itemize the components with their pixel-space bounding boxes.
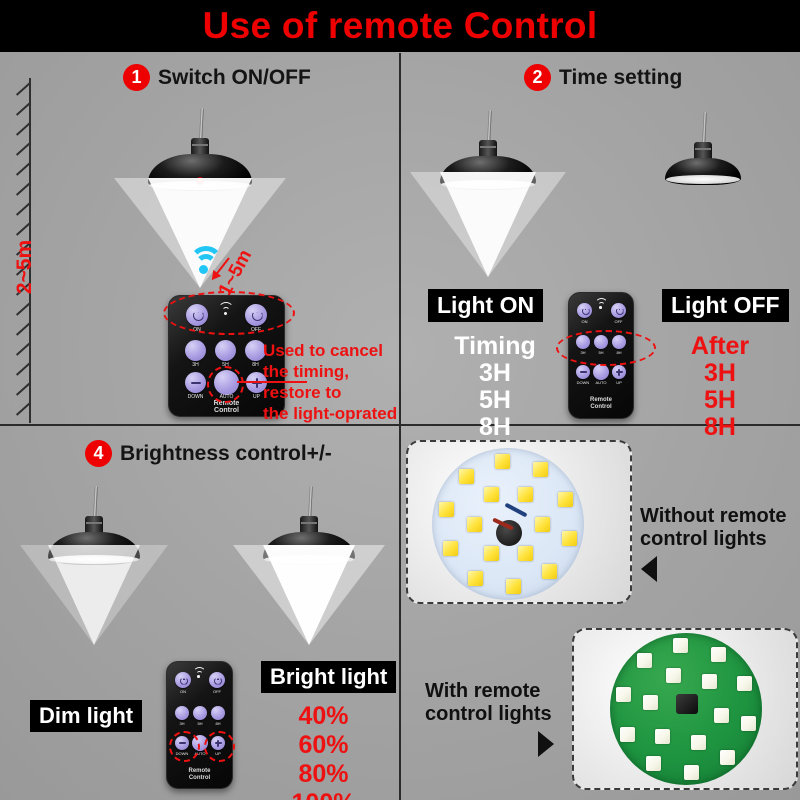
led-chip — [495, 454, 510, 469]
percent-item: 80% — [261, 760, 386, 789]
infographic-page: Use of remote Control 1 Switch ON/OFF 2~… — [0, 0, 800, 800]
remote-button-3h[interactable] — [185, 340, 206, 361]
callout-line-4: the light-oprated — [263, 403, 397, 424]
highlight-up-button — [204, 731, 235, 762]
remote-label-3h: 3H — [175, 721, 189, 726]
lamp-cord — [702, 112, 707, 146]
lamp-panel-2-off — [665, 112, 741, 192]
percent-item: 40% — [261, 702, 386, 731]
power-icon — [616, 307, 624, 315]
after-list-item: 5H — [645, 387, 795, 414]
callout-line-2: the timing, — [263, 361, 397, 382]
with-remote-label: With remote control lights — [425, 680, 552, 726]
remote-button-auto[interactable] — [593, 364, 609, 380]
remote-button-3h[interactable] — [175, 706, 189, 720]
remote-button-on[interactable] — [175, 672, 191, 688]
minus-icon — [580, 371, 587, 372]
lamp-cord — [199, 108, 204, 142]
highlight-down-button — [169, 731, 200, 762]
led-chip — [646, 756, 661, 771]
led-chip — [714, 708, 729, 723]
led-chip — [620, 727, 635, 742]
timing-list-item: 8H — [420, 414, 570, 441]
led-chip — [673, 638, 688, 653]
led-chip — [439, 502, 454, 517]
after-list-item: 8H — [645, 414, 795, 441]
wifi-icon — [193, 667, 207, 678]
divider-vertical-top — [399, 53, 401, 425]
led-chip — [542, 564, 557, 579]
arrow-left-icon — [641, 556, 657, 582]
lamp-shade — [665, 158, 741, 185]
led-chip — [711, 647, 726, 662]
panel-2-number: 2 — [524, 64, 551, 91]
power-icon — [214, 677, 222, 685]
percent-item: 100% — [261, 789, 386, 800]
after-list-item: 3H — [645, 360, 795, 387]
timing-list: Timing 3H 5H 8H — [420, 333, 570, 441]
percent-item: 60% — [261, 731, 386, 760]
timing-list-item: 3H — [420, 360, 570, 387]
light-beam-panel-2 — [488, 172, 536, 277]
led-chip — [467, 517, 482, 532]
with-remote-line-1: With remote — [425, 680, 552, 703]
remote-label-5h: 5H — [193, 721, 207, 726]
lamp-cord — [93, 486, 98, 520]
divider-vertical-bottom — [399, 426, 401, 800]
led-chip — [506, 579, 521, 594]
ir-receiver-module — [676, 694, 698, 714]
without-remote-label: Without remote control lights — [640, 505, 786, 551]
remote-footer-line2: Control — [569, 403, 633, 411]
light-beam-bright — [309, 545, 355, 645]
lamp-cord — [308, 486, 313, 520]
light-on-badge: Light ON — [428, 289, 543, 322]
highlight-power-row — [163, 291, 295, 335]
light-off-badge: Light OFF — [662, 289, 789, 322]
callout-line-1: Used to cancel — [263, 340, 397, 361]
remote-control-panel-3[interactable]: ON OFF 3H 5H 8H DOWN AUTO UP Remote Cont… — [166, 661, 233, 789]
remote-label-on: ON — [175, 689, 191, 694]
lamp-rim — [666, 175, 740, 184]
remote-button-off[interactable] — [611, 303, 626, 318]
led-chip — [643, 695, 658, 710]
timing-list-item: Timing — [420, 333, 570, 360]
remote-button-up[interactable] — [612, 365, 626, 379]
highlight-timer-row — [556, 330, 656, 366]
bright-light-badge: Bright light — [261, 661, 396, 693]
remote-footer-line2: Control — [167, 774, 232, 782]
brightness-percent-list: 40% 60% 80% 100% — [261, 702, 386, 800]
wifi-icon — [595, 298, 609, 309]
remote-button-8h[interactable] — [211, 706, 225, 720]
led-chip — [655, 729, 670, 744]
led-chip — [468, 571, 483, 586]
with-remote-line-2: control lights — [425, 703, 552, 726]
timing-list-item: 5H — [420, 387, 570, 414]
led-chip — [562, 531, 577, 546]
remote-label-8h: 8H — [211, 721, 225, 726]
remote-button-down[interactable] — [576, 365, 590, 379]
power-icon — [582, 307, 590, 315]
led-chip — [741, 716, 756, 731]
after-list-item: After — [645, 333, 795, 360]
led-chip — [533, 462, 548, 477]
remote-button-on[interactable] — [577, 303, 592, 318]
remote-button-5h[interactable] — [193, 706, 207, 720]
led-chip — [518, 546, 533, 561]
light-beam-dim — [94, 545, 140, 645]
remote-label-up: UP — [607, 380, 631, 385]
remote-button-5h[interactable] — [215, 340, 236, 361]
panel-3-number: 4 — [85, 440, 112, 467]
after-list: After 3H 5H 8H — [645, 333, 795, 441]
plus-icon-bar — [616, 371, 623, 372]
arrow-right-icon — [538, 731, 554, 757]
page-title: Use of remote Control — [0, 2, 800, 50]
minus-icon — [191, 382, 201, 384]
led-chip — [443, 541, 458, 556]
photo-without-remote — [406, 440, 632, 604]
callout-note: Used to cancel the timing, restore to th… — [263, 340, 397, 424]
led-chip — [484, 487, 499, 502]
led-chip — [459, 469, 474, 484]
remote-label-3h: 3H — [185, 362, 206, 368]
led-chip — [637, 653, 652, 668]
led-chip — [484, 546, 499, 561]
callout-line-3: restore to — [263, 382, 397, 403]
led-chip — [558, 492, 573, 507]
without-remote-line-1: Without remote — [640, 505, 786, 528]
remote-label-on: ON — [577, 319, 592, 324]
led-chip — [702, 674, 717, 689]
remote-button-down[interactable] — [185, 372, 206, 393]
led-chip — [518, 487, 533, 502]
remote-label-off: OFF — [209, 689, 225, 694]
wall-distance-label: 2~5m — [13, 232, 37, 302]
highlight-auto-button — [207, 366, 244, 403]
panel-1-number: 1 — [123, 64, 150, 91]
led-chip — [720, 750, 735, 765]
led-chip — [737, 676, 752, 691]
dim-light-badge: Dim light — [30, 700, 142, 732]
remote-label-off: OFF — [611, 319, 626, 324]
photo-with-remote — [572, 628, 798, 790]
panel-3-heading: Brightness control+/- — [120, 442, 332, 466]
without-remote-line-2: control lights — [640, 528, 786, 551]
power-icon — [180, 677, 188, 685]
remote-button-off[interactable] — [209, 672, 225, 688]
led-chip — [666, 668, 681, 683]
lamp-cord — [487, 110, 492, 144]
led-chip — [616, 687, 631, 702]
led-chip — [684, 765, 699, 780]
led-chip — [535, 517, 550, 532]
panel-1-heading: Switch ON/OFF — [158, 66, 311, 90]
panel-2-heading: Time setting — [559, 66, 682, 90]
led-chip — [691, 735, 706, 750]
